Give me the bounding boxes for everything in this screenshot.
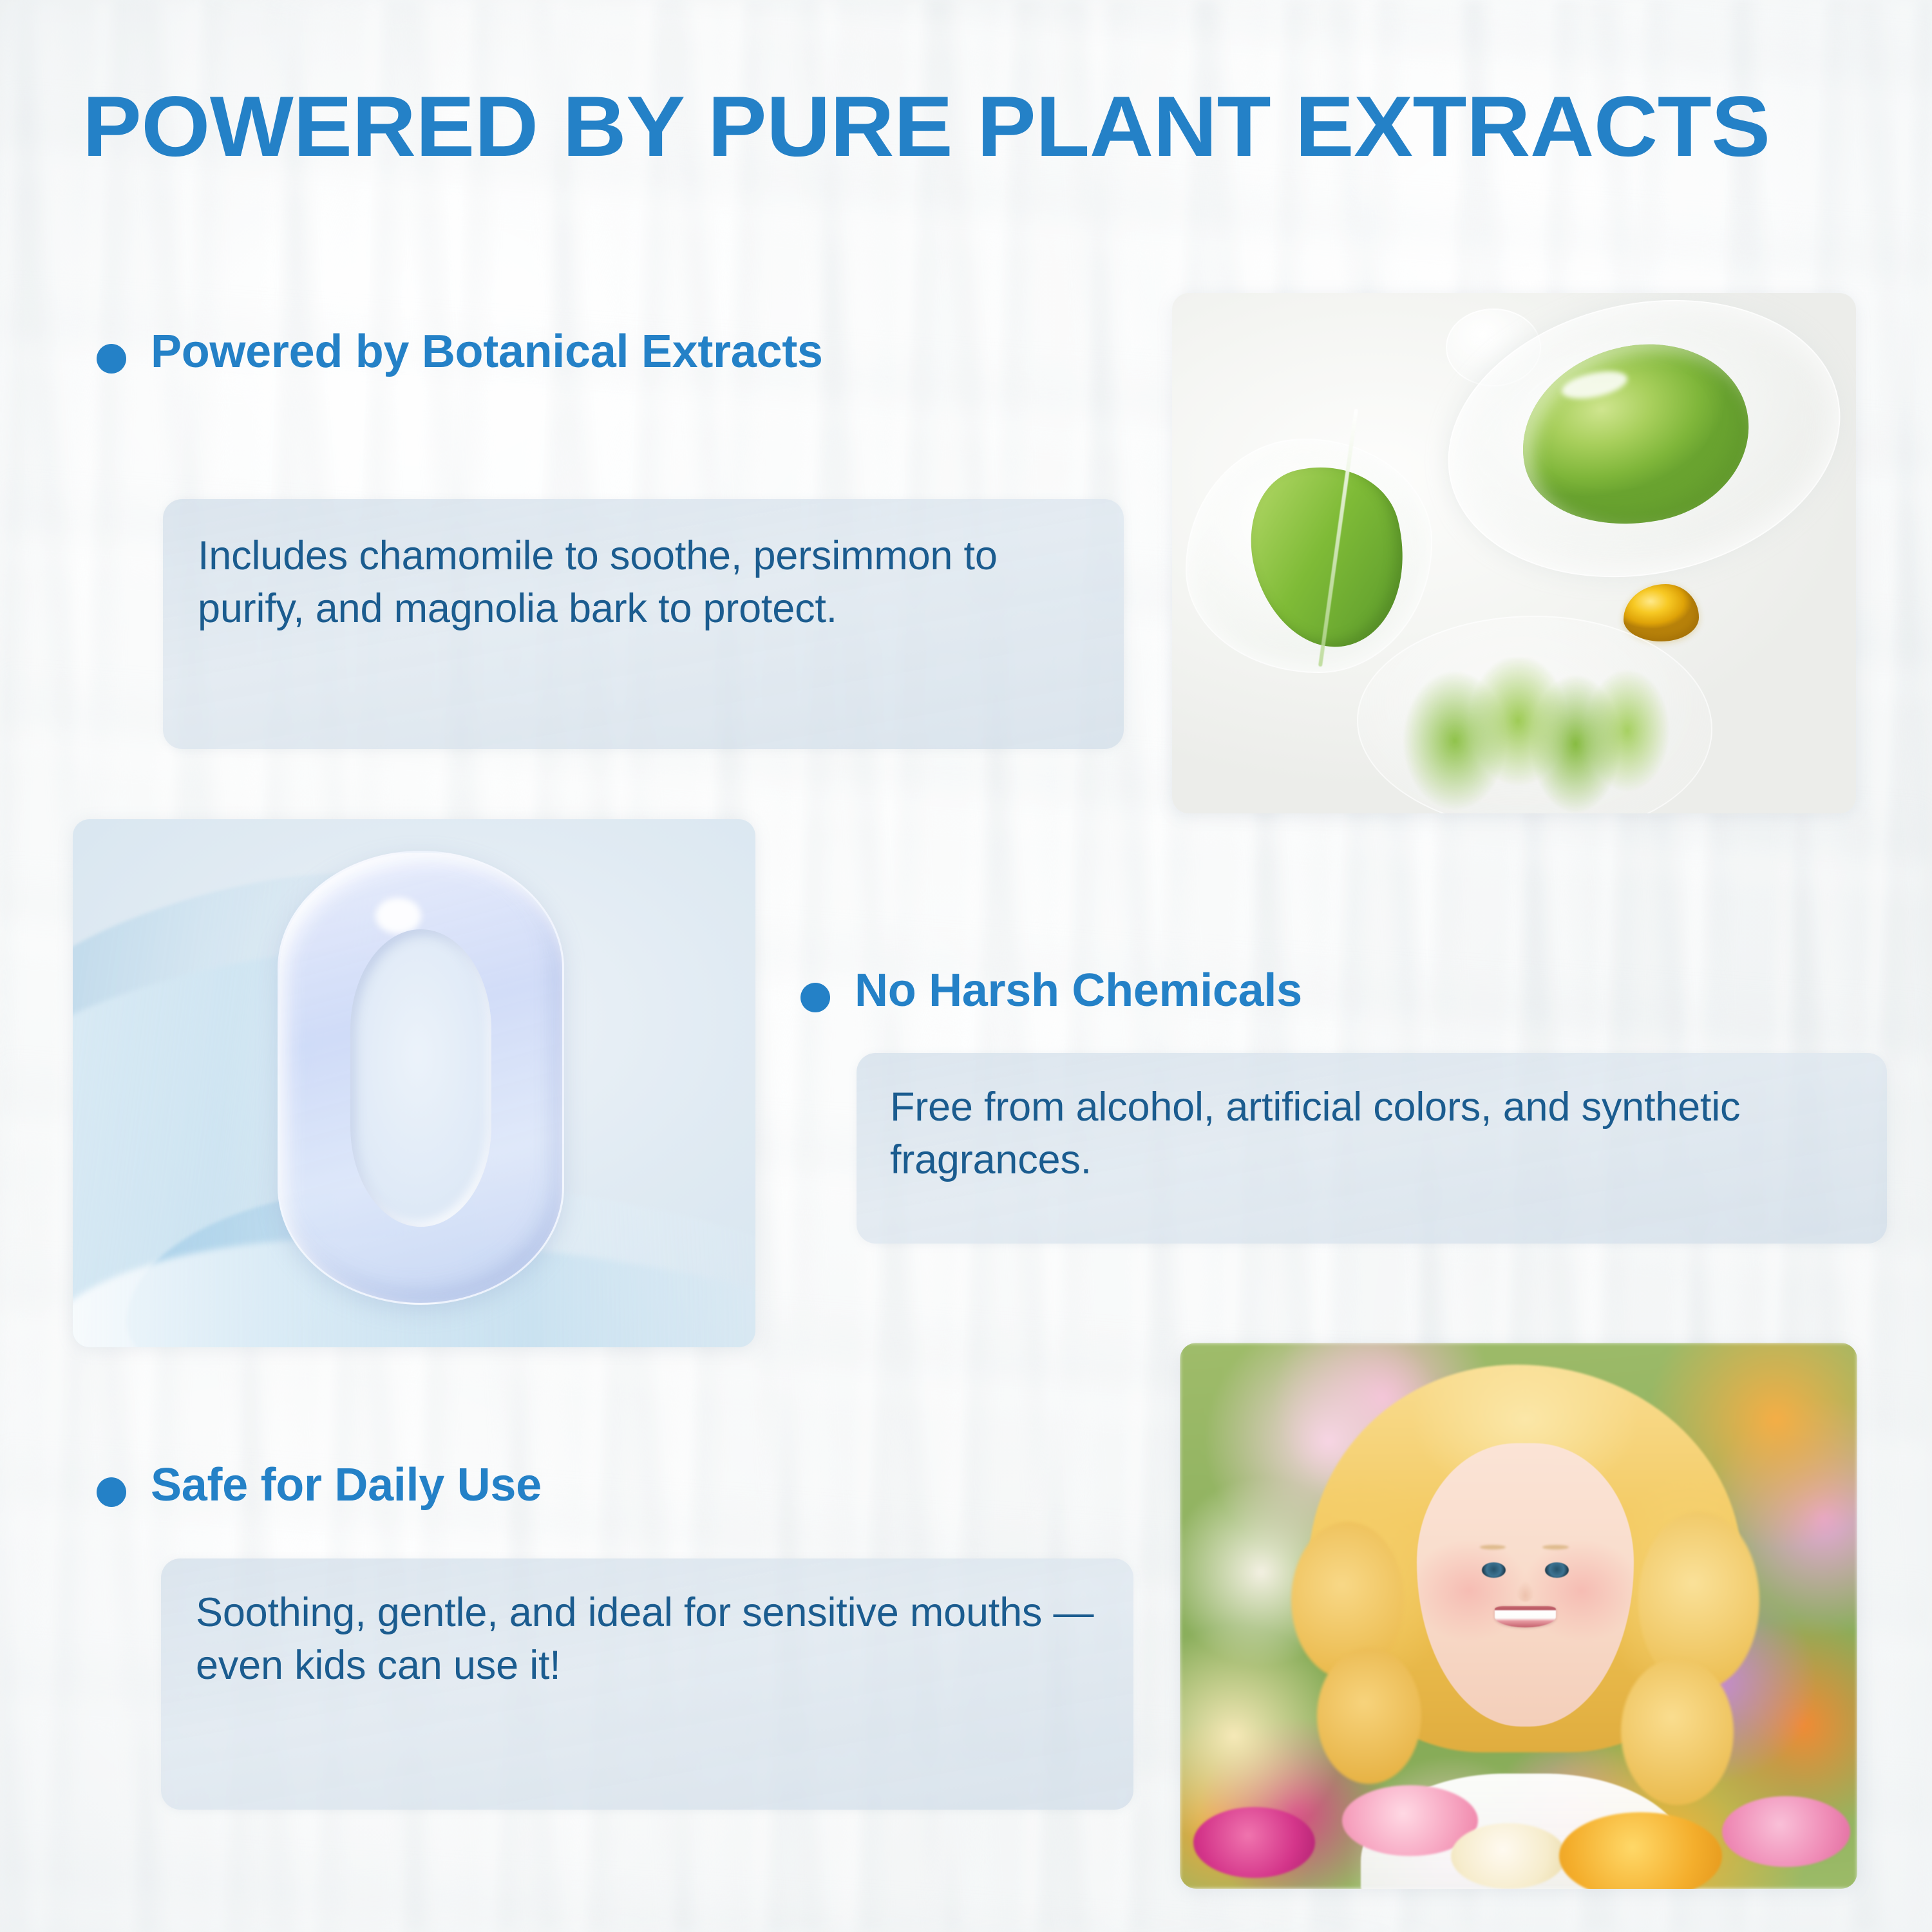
botanical-extract-photo	[1172, 293, 1856, 813]
glass-zero-backdrop	[73, 819, 755, 1347]
smiling-girl-photo	[1180, 1343, 1857, 1889]
feature-body-panel-no-harsh-chemicals: Free from alcohol, artificial colors, an…	[857, 1053, 1887, 1244]
hair-curl-lower-right	[1621, 1658, 1734, 1805]
feature-body-text: Soothing, gentle, and ideal for sensitiv…	[196, 1587, 1099, 1692]
feature-body-text: Includes chamomile to soothe, persimmon …	[198, 530, 1089, 636]
feature-heading-label: No Harsh Chemicals	[855, 966, 1302, 1016]
feature-heading-safe-daily-use: Safe for Daily Use	[97, 1461, 1140, 1510]
amber-oil-droplet	[1624, 584, 1699, 641]
feature-heading-no-harsh-chemicals: No Harsh Chemicals	[800, 966, 1895, 1016]
smiling-mouth	[1495, 1606, 1555, 1627]
eyebrow-right	[1542, 1545, 1568, 1549]
feature-body-panel-safe-daily-use: Soothing, gentle, and ideal for sensitiv…	[161, 1558, 1133, 1810]
foreground-flower-rose	[1722, 1796, 1851, 1867]
bullet-dot-icon	[97, 1477, 126, 1507]
green-extract-core	[1505, 325, 1765, 545]
glass-zero-glyph	[278, 851, 564, 1305]
foreground-flower-white	[1451, 1823, 1566, 1889]
glass-highlight	[375, 898, 421, 934]
feature-heading-botanical: Powered by Botanical Extracts	[97, 327, 1140, 377]
glass-zero-photo	[73, 819, 755, 1347]
infographic-canvas: POWERED BY PURE PLANT EXTRACTS Powered b…	[0, 0, 1932, 1932]
botanical-photo-backdrop	[1172, 293, 1856, 813]
bullet-dot-icon	[97, 344, 126, 374]
foreground-flower-magenta	[1193, 1807, 1315, 1878]
feature-body-text: Free from alcohol, artificial colors, an…	[890, 1081, 1853, 1187]
eye-left	[1482, 1562, 1506, 1578]
feature-heading-label: Powered by Botanical Extracts	[151, 327, 823, 377]
fern-leaves	[1397, 658, 1685, 813]
bullet-dot-icon	[800, 983, 830, 1012]
eye-right	[1545, 1562, 1569, 1578]
feature-heading-label: Safe for Daily Use	[151, 1461, 542, 1510]
hair-curl-lower-left	[1317, 1648, 1421, 1785]
eyebrow-left	[1480, 1545, 1506, 1549]
feature-body-panel-botanical: Includes chamomile to soothe, persimmon …	[163, 499, 1124, 749]
nose	[1517, 1582, 1534, 1602]
page-title: POWERED BY PURE PLANT EXTRACTS	[82, 82, 1922, 171]
